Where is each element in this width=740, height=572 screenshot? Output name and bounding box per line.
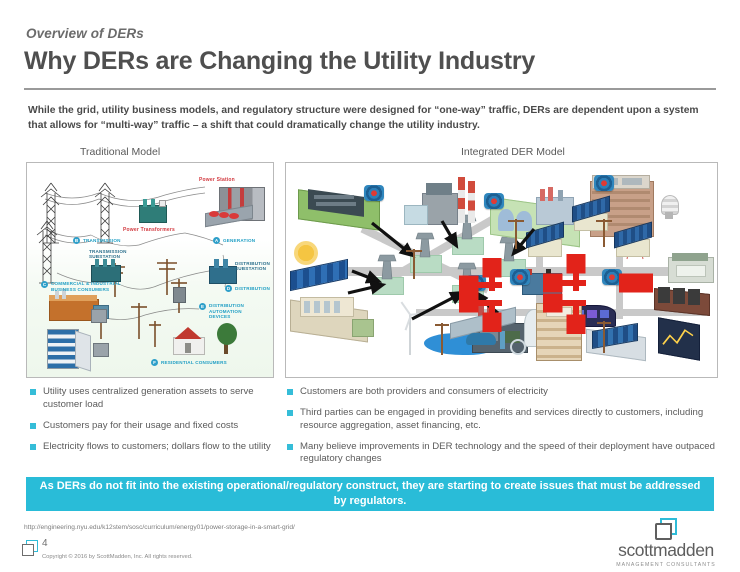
label-distribution: DISTRIBUTION — [235, 286, 270, 292]
label-residential-consumers: RESIDENTIAL CONSUMERS — [161, 360, 227, 366]
power-transformer-graphic — [137, 199, 167, 225]
label-generation: GENERATION — [223, 238, 255, 244]
title-divider — [24, 88, 716, 90]
footer-logo-mark-icon — [22, 540, 38, 556]
slide: Overview of DERs Why DERs are Changing t… — [0, 0, 740, 572]
logo-tagline: MANAGEMENT CONSULTANTS — [612, 562, 720, 568]
source-url[interactable]: http://engineering.nyu.edu/k12stem/sosc/… — [24, 524, 295, 531]
list-item: Utility uses centralized generation asse… — [30, 386, 274, 412]
logo-wordmark: scottmadden — [612, 542, 720, 560]
key-dot-f: F — [151, 359, 158, 366]
key-dot-e: E — [199, 303, 206, 310]
list-item: Customers pay for their usage and fixed … — [30, 420, 274, 433]
bullet-list-integrated: Customers are both providers and consume… — [287, 386, 719, 474]
key-dot-a: A — [213, 237, 220, 244]
logo-mark-icon — [655, 518, 677, 540]
figure-integrated-der-model — [285, 162, 718, 378]
commercial-building-graphic — [47, 329, 91, 369]
label-distribution-substation: Distribution Substation — [235, 261, 273, 272]
scottmadden-logo: scottmadden MANAGEMENT CONSULTANTS — [612, 518, 720, 568]
callout-banner: As DERs do not fit into the existing ope… — [26, 477, 714, 511]
label-transmission-substation: Transmission Substation — [89, 249, 133, 260]
label-commercial-consumers: COMMERCIAL & INDUSTRIAL BUSINESS CONSUME… — [51, 281, 131, 292]
pad-transformer-graphic — [93, 343, 109, 357]
bullet-list-traditional: Utility uses centralized generation asse… — [30, 386, 274, 461]
automation-device-graphic — [173, 287, 186, 303]
intro-paragraph: While the grid, utility business models,… — [28, 104, 716, 133]
label-transmission: TRANSMISSION — [83, 238, 121, 244]
transmission-substation-graphic — [89, 259, 121, 283]
der-poles — [286, 163, 717, 377]
list-item: Electricity flows to customers; dollars … — [30, 441, 274, 454]
label-automation-devices: DISTRIBUTION AUTOMATION DEVICES — [209, 303, 261, 320]
key-dot-b: B — [73, 237, 80, 244]
list-item: Many believe improvements in DER technol… — [287, 441, 719, 467]
copyright-notice: Copyright © 2016 by ScottMadden, Inc. Al… — [42, 554, 193, 560]
key-dot-d: D — [225, 285, 232, 292]
page-title: Why DERs are Changing the Utility Indust… — [24, 47, 535, 76]
slide-eyebrow: Overview of DERs — [26, 26, 144, 41]
residential-house-graphic — [169, 325, 209, 355]
figure-caption-traditional: Traditional Model — [80, 146, 160, 158]
label-power-station: Power Station — [199, 177, 235, 183]
figure-traditional-model: Power Station Power Transformers B TRANS… — [26, 162, 274, 378]
key-dot-c: C — [41, 281, 48, 288]
distribution-substation-graphic — [207, 259, 237, 285]
pad-transformer-graphic — [91, 309, 107, 323]
list-item: Third parties can be engaged in providin… — [287, 407, 719, 433]
list-item: Customers are both providers and consume… — [287, 386, 719, 399]
label-power-transformers: Power Transformers — [123, 227, 175, 233]
page-number: 4 — [42, 538, 48, 549]
power-station-graphic — [205, 187, 263, 233]
figure-caption-integrated: Integrated DER Model — [461, 146, 565, 158]
tree-graphic — [217, 323, 239, 355]
